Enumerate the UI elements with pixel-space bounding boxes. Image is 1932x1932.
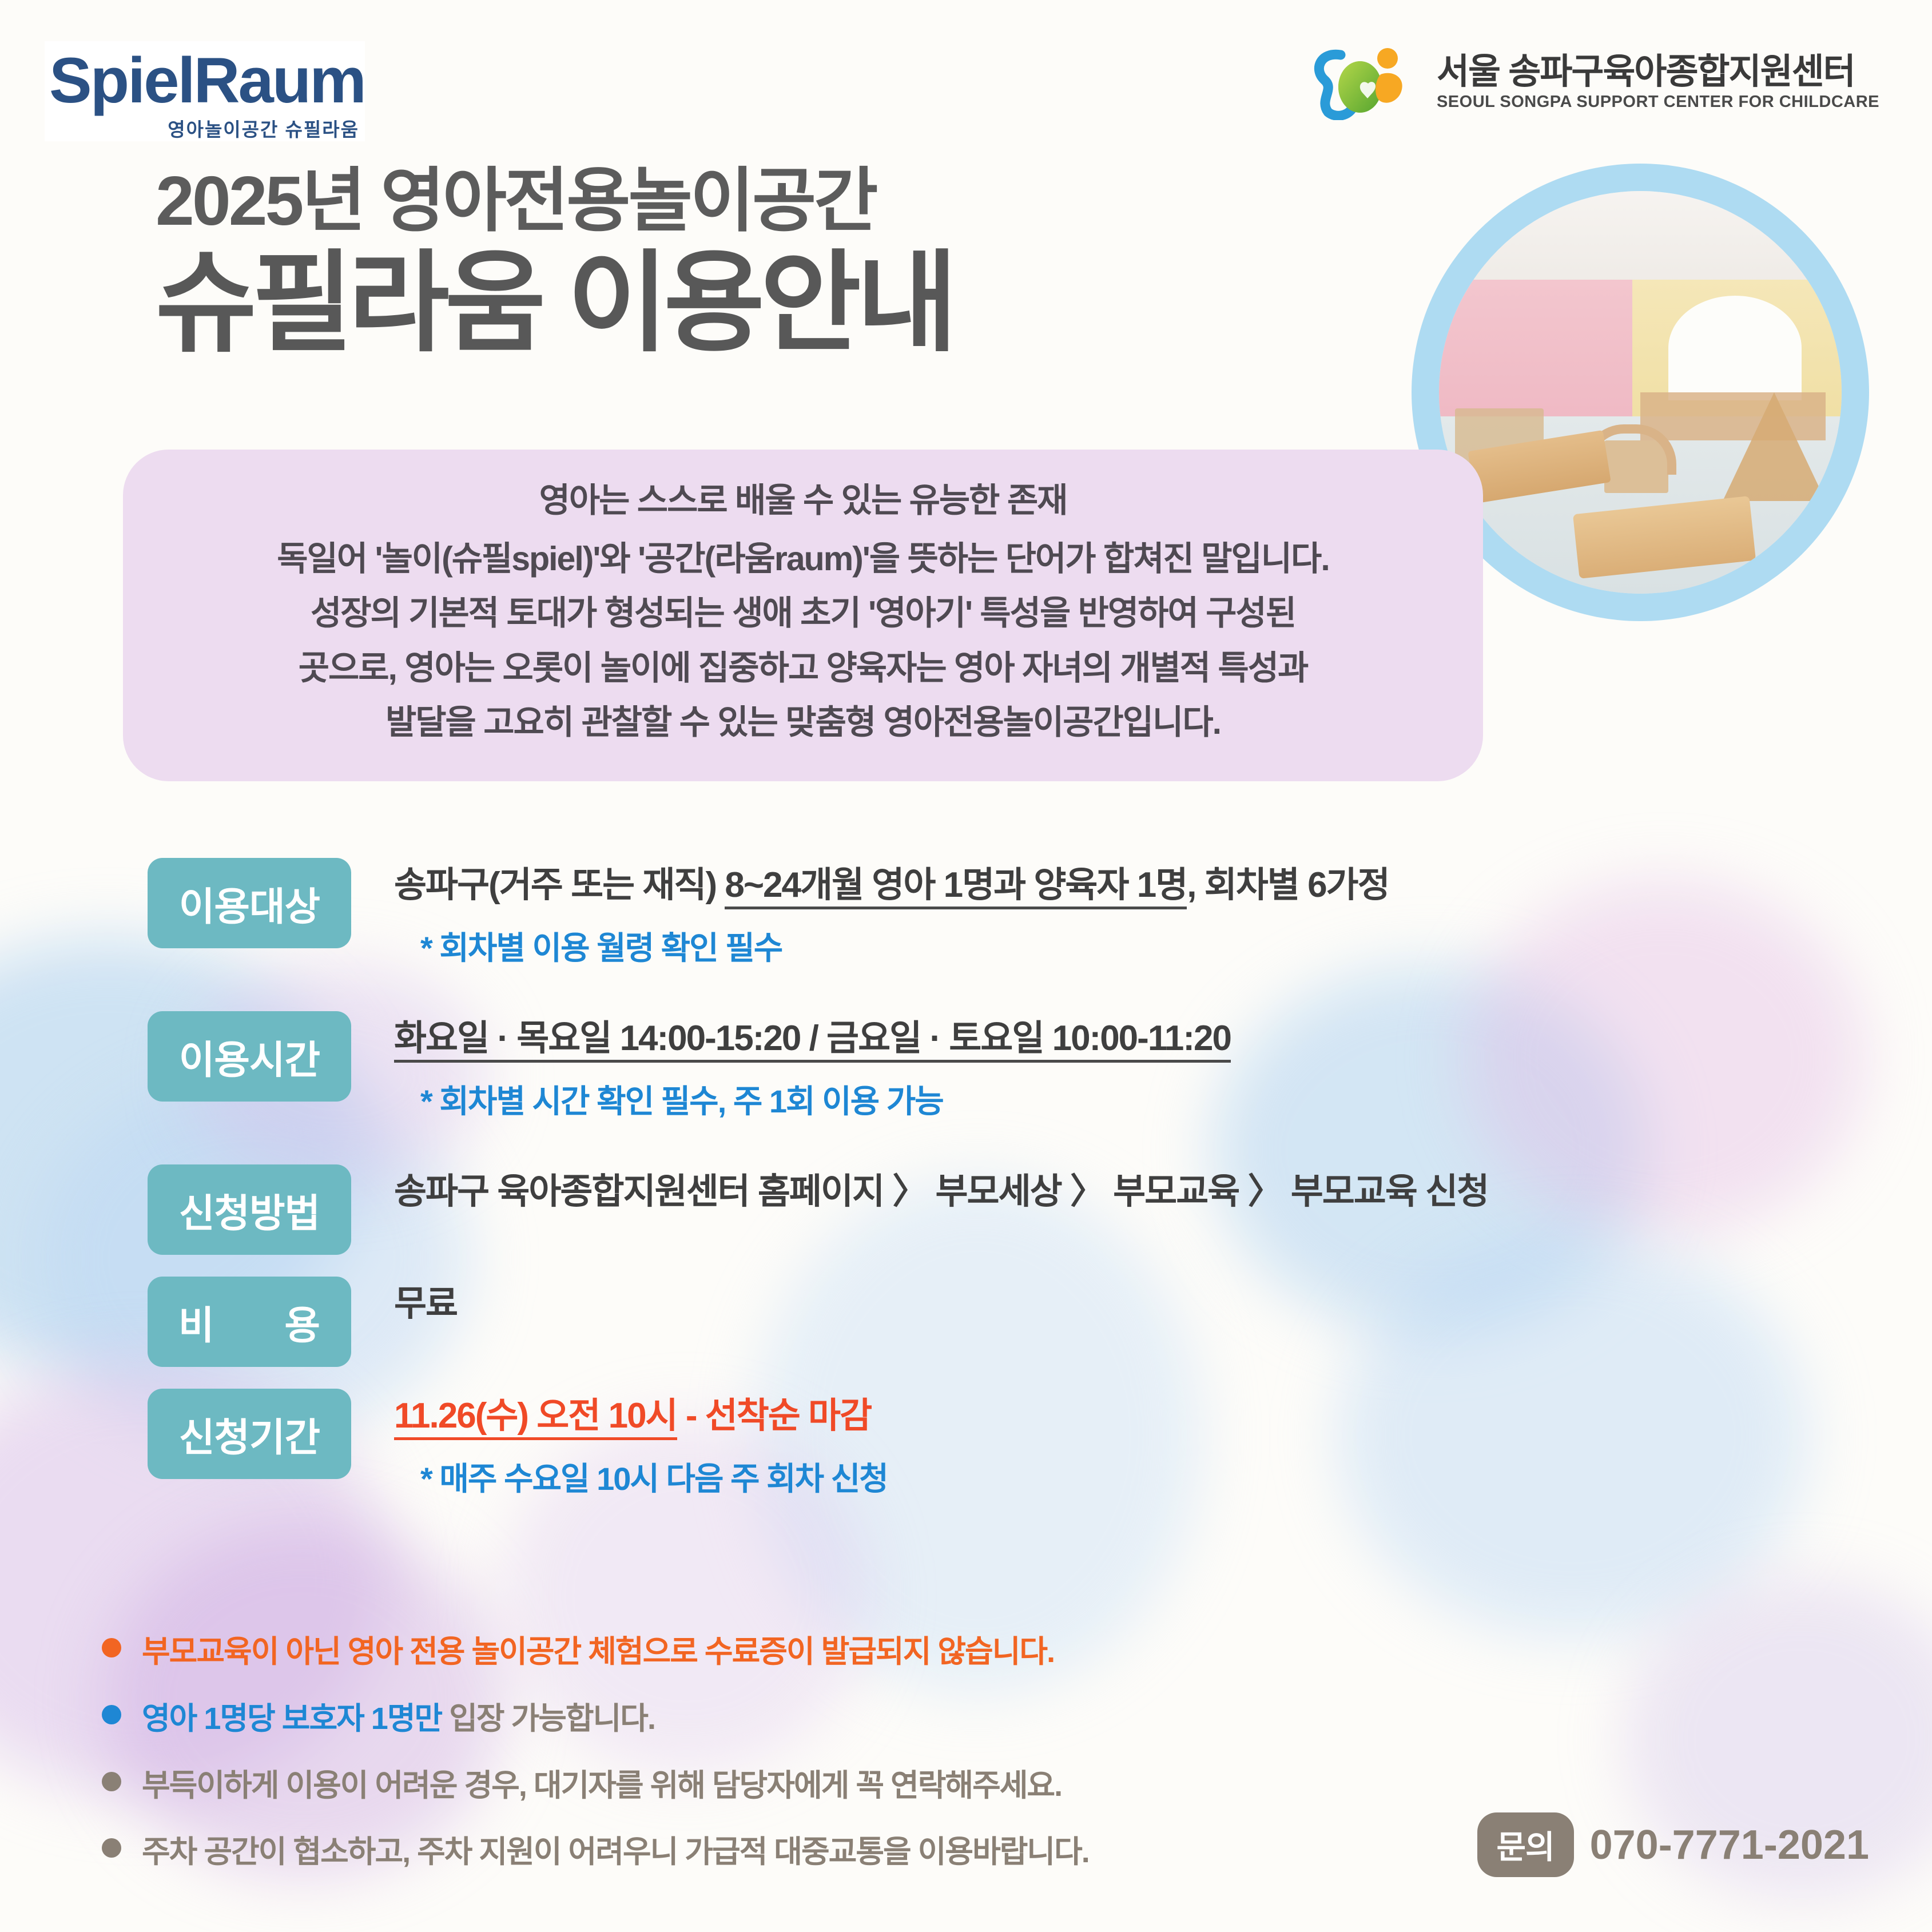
contact-label: 문의 [1477,1812,1574,1877]
info-sub-time: * 회차별 시간 확인 필수, 주 1회 이용 가능 [394,1076,1840,1122]
contact-block: 문의 070-7771-2021 [1477,1812,1869,1877]
bullet-dot-icon [102,1838,121,1858]
contact-phone[interactable]: 070-7771-2021 [1590,1822,1869,1869]
info-row-method: 신청방법 송파구 육아종합지원센터 홈페이지 〉 부모세상 〉 부모교육 〉 부… [148,1164,1840,1266]
info-main-post: - 선착순 마감 [677,1396,872,1436]
title-line-2: 슈필라움 이용안내 [156,244,953,362]
bullet-dot-icon [102,1772,121,1791]
info-main-pre: 송파구(거주 또는 재직) [394,865,725,905]
songpa-center-logo: 서울 송파구육아종합지원센터 SEOUL SONGPA SUPPORT CENT… [1307,45,1879,120]
notice-highlight: 부모교육이 아닌 영아 전용 놀이공간 체험으로 수료증이 발급되지 않습니다. [142,1635,1054,1669]
info-sub-period: * 매주 수요일 10시 다음 주 회차 신청 [394,1453,1840,1500]
info-main-method: 송파구 육아종합지원센터 홈페이지 〉 부모세상 〉 부모교육 〉 부모교육 신… [394,1169,1840,1214]
description-line: 독일어 '놀이(슈필spiel)'와 '공간(라움raum)'을 뜻하는 단어가… [152,532,1454,587]
info-sub-target: * 회차별 이용 월령 확인 필수 [394,923,1840,969]
info-tag-method: 신청방법 [148,1164,351,1255]
notice-plain: 주차 공간이 협소하고, 주차 지원이 어려우니 가급적 대중교통을 이용바랍니… [142,1835,1089,1869]
info-row-period: 신청기간 11.26(수) 오전 10시 - 선착순 마감 * 매주 수요일 1… [148,1389,1840,1532]
info-row-time: 이용시간 화요일 · 목요일 14:00-15:20 / 금요일 · 토요일 1… [148,1011,1840,1154]
info-tag-fee: 비 용 [148,1277,351,1367]
info-main-pre: 무료 [394,1284,457,1323]
bullet-dot-icon [102,1705,121,1724]
page-title: 2025년 영아전용놀이공간 슈필라움 이용안내 [156,166,953,362]
info-main-period: 11.26(수) 오전 10시 - 선착순 마감 [394,1393,1840,1438]
notice-text: 부득이하게 이용이 어려운 경우, 대기자를 위해 담당자에게 꼭 연락해주세요… [142,1767,1062,1804]
info-main-time: 화요일 · 목요일 14:00-15:20 / 금요일 · 토요일 10:00-… [394,1016,1840,1061]
center-name-english: SEOUL SONGPA SUPPORT CENTER FOR CHILDCAR… [1437,93,1879,112]
center-name-korean: 서울 송파구육아종합지원센터 [1437,53,1855,90]
title-line-1: 2025년 영아전용놀이공간 [156,166,953,236]
info-tag-time: 이용시간 [148,1011,351,1102]
description-line: 발달을 고요히 관찰할 수 있는 맞춤형 영아전용놀이공간입니다. [152,695,1454,750]
notice-plain: 부득이하게 이용이 어려운 경우, 대기자를 위해 담당자에게 꼭 연락해주세요… [142,1768,1062,1803]
spielraum-logo: SpielRaum 영아놀이공간 슈필라움 [45,41,365,141]
info-tag-period: 신청기간 [148,1389,351,1479]
description-box: 영아는 스스로 배울 수 있는 유능한 존재 독일어 '놀이(슈필spiel)'… [123,450,1483,781]
description-line: 성장의 기본적 토대가 형성되는 생애 초기 '영아기' 특성을 반영하여 구성… [152,586,1454,641]
info-main-underline: 화요일 · 목요일 14:00-15:20 / 금요일 · 토요일 10:00-… [394,1019,1231,1063]
notice-item: 부모교육이 아닌 영아 전용 놀이공간 체험으로 수료증이 발급되지 않습니다. [102,1633,1760,1671]
description-line: 영아는 스스로 배울 수 있는 유능한 존재 [152,474,1454,528]
info-main-pre: 송파구 육아종합지원센터 홈페이지 〉 부모세상 〉 부모교육 〉 부모교육 신… [394,1172,1488,1211]
description-line: 곳으로, 영아는 오롯이 놀이에 집중하고 양육자는 영아 자녀의 개별적 특성… [152,641,1454,696]
info-row-target: 이용대상 송파구(거주 또는 재직) 8~24개월 영아 1명과 양육자 1명,… [148,858,1840,1001]
notice-text: 부모교육이 아닌 영아 전용 놀이공간 체험으로 수료증이 발급되지 않습니다. [142,1633,1054,1671]
info-main-underline: 11.26(수) 오전 10시 [394,1396,677,1440]
info-tag-target: 이용대상 [148,858,351,948]
info-main-post: , 회차별 6가정 [1187,865,1389,905]
info-table: 이용대상 송파구(거주 또는 재직) 8~24개월 영아 1명과 양육자 1명,… [148,858,1840,1542]
info-row-fee: 비 용 무료 [148,1277,1840,1378]
info-main-fee: 무료 [394,1281,1840,1326]
notice-item: 부득이하게 이용이 어려운 경우, 대기자를 위해 담당자에게 꼭 연락해주세요… [102,1767,1760,1804]
info-main-target: 송파구(거주 또는 재직) 8~24개월 영아 1명과 양육자 1명, 회차별 … [394,862,1840,908]
notice-highlight: 영아 1명당 보호자 1명만 [142,1702,442,1736]
spielraum-tagline: 영아놀이공간 슈필라움 [168,114,359,142]
notice-plain: 입장 가능합니다. [442,1702,655,1736]
notice-item: 영아 1명당 보호자 1명만 입장 가능합니다. [102,1700,1760,1738]
spielraum-wordmark: SpielRaum [49,43,365,117]
notice-text: 주차 공간이 협소하고, 주차 지원이 어려우니 가급적 대중교통을 이용바랍니… [142,1834,1089,1871]
sci-childcare-mark-icon [1307,45,1422,120]
bullet-dot-icon [102,1638,121,1657]
info-main-underline: 8~24개월 영아 1명과 양육자 1명 [725,865,1187,909]
playroom-photo [1439,191,1842,594]
poster-root: SpielRaum 영아놀이공간 슈필라움 서울 송파구육아종 [0,0,1932,1932]
notice-text: 영아 1명당 보호자 1명만 입장 가능합니다. [142,1700,655,1738]
